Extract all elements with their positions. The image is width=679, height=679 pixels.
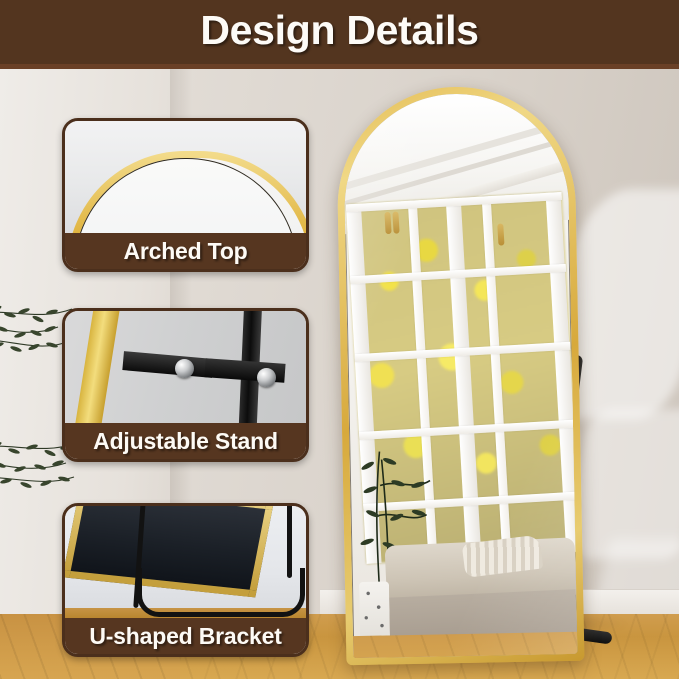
- feature-card-adjustable-stand[interactable]: Adjustable Stand: [62, 308, 309, 462]
- u-bracket-bend: [137, 568, 305, 617]
- arched-top-closeup-photo: [65, 121, 306, 233]
- page-title: Design Details: [0, 0, 679, 64]
- mirror-glass: [343, 92, 578, 658]
- stand-bolt-left: [175, 359, 194, 378]
- reflected-window-handle-3: [497, 223, 504, 245]
- reflected-window-handle-1: [384, 212, 391, 234]
- stand-bolt-right: [257, 368, 276, 387]
- reflected-window-handle-2: [392, 211, 399, 233]
- feature-card-label-adjustable-stand: Adjustable Stand: [65, 423, 306, 459]
- arched-floor-mirror: [335, 85, 584, 665]
- feature-card-label-arched-top: Arched Top: [65, 233, 306, 269]
- u-shaped-bracket-closeup-photo: [65, 506, 306, 618]
- feature-card-arched-top[interactable]: Arched Top: [62, 118, 309, 272]
- header-underline: [0, 64, 679, 69]
- reflected-terrazzo-vase: [359, 581, 390, 640]
- feature-card-u-shaped-bracket[interactable]: U-shaped Bracket: [62, 503, 309, 657]
- product-infographic: Design Details Arched Top Adjustable Sta…: [0, 0, 679, 679]
- adjustable-stand-closeup-photo: [65, 311, 306, 423]
- feature-card-label-u-shaped-bracket: U-shaped Bracket: [65, 618, 306, 654]
- reflected-floor: [353, 632, 577, 658]
